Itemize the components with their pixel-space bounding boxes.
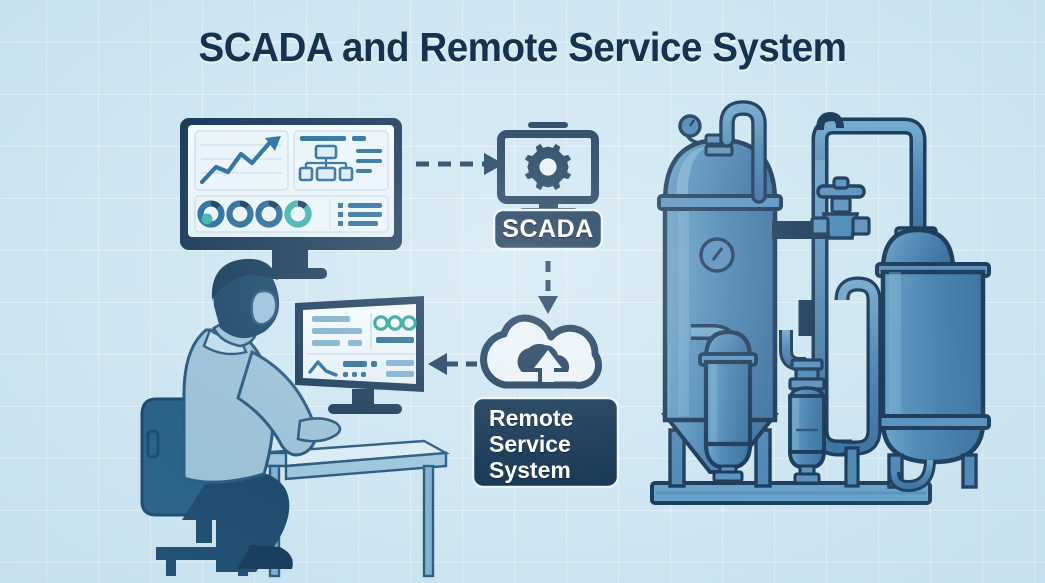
flow-arrow-scada-to-cloud	[538, 261, 558, 314]
line-chart-panel	[195, 131, 288, 190]
horizontal-receiver	[842, 284, 874, 448]
flow-arrow-cloud-to-operator	[428, 353, 484, 375]
scada-system-illustration	[0, 0, 1045, 583]
cloud-upload-icon[interactable]	[473, 318, 618, 487]
process-plant-equipment[interactable]	[652, 108, 989, 503]
operator-monitor[interactable]	[295, 296, 424, 414]
dashboard-monitor[interactable]	[180, 118, 402, 279]
secondary-column	[877, 228, 989, 487]
gear-icon	[525, 144, 571, 190]
hierarchy-panel	[294, 131, 388, 190]
illustration-canvas: SCADA and Remote Service System SCADA Re…	[0, 0, 1045, 583]
scada-monitor[interactable]	[494, 122, 602, 249]
page-title: SCADA and Remote Service System	[31, 24, 1013, 71]
flow-arrow-dashboard-to-scada	[416, 153, 504, 175]
